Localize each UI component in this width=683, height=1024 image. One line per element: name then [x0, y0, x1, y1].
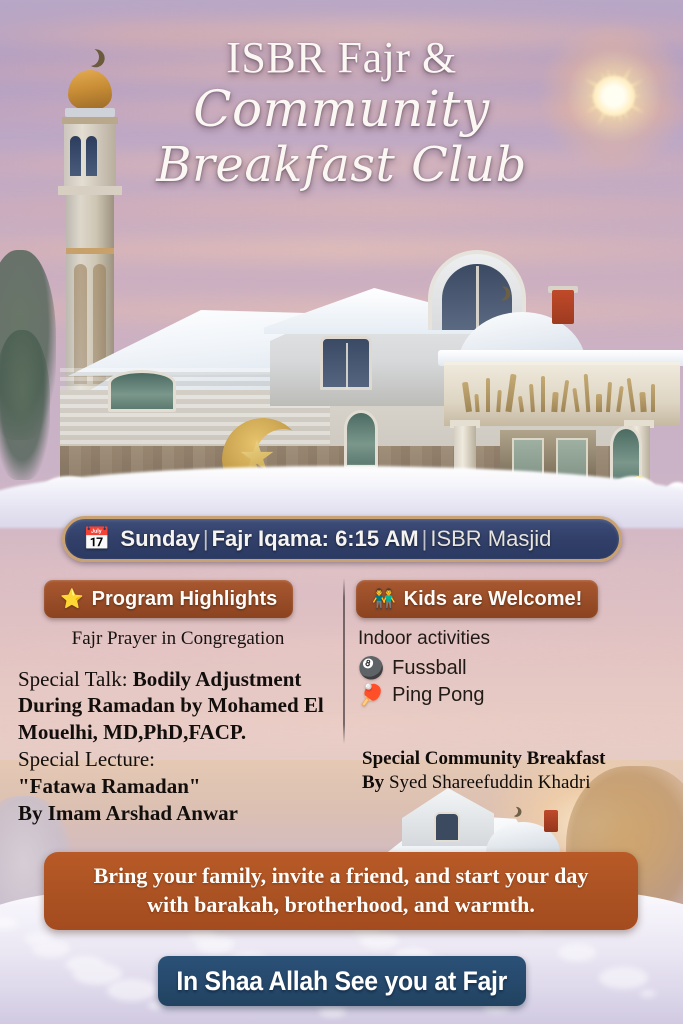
- kids-activities-column: Indoor activities 🎱 Fussball 🏓 Ping Pong: [358, 628, 670, 711]
- star-icon: ⭐: [60, 590, 84, 609]
- calligraphy-stroke: [496, 390, 502, 412]
- snow-speck: [558, 944, 596, 961]
- breakfast-by-name: Syed Shareefuddin Khadri: [389, 772, 591, 793]
- children-icon: 👬: [372, 590, 396, 609]
- calligraphy-stroke: [541, 376, 545, 412]
- program-highlights-column: Fajr Prayer in Congregation Special Talk…: [18, 628, 338, 826]
- breakfast-by-line: By Syed Shareefuddin Khadri: [362, 771, 662, 796]
- calligraphy-stroke: [529, 384, 535, 412]
- section-header-kids-welcome: 👬 Kids are Welcome!: [356, 580, 598, 618]
- chimney: [552, 290, 574, 324]
- calendar-icon: 📅: [83, 528, 110, 550]
- special-lecture-block: Special Lecture: "Fatawa Ramadan" By Ima…: [18, 746, 338, 827]
- activity-item-ping-pong: 🏓 Ping Pong: [358, 684, 670, 707]
- breakfast-by-label: By: [362, 772, 384, 793]
- calligraphy-stroke: [606, 382, 612, 412]
- special-lecture-title: "Fatawa Ramadan": [18, 773, 338, 800]
- cta-invitation-box: Bring your family, invite a friend, and …: [44, 852, 638, 930]
- fajr-prayer-line: Fajr Prayer in Congregation: [18, 628, 338, 650]
- snow-speck: [640, 990, 656, 997]
- special-talk-block: Special Talk: Bodily Adjustment During R…: [18, 666, 338, 745]
- calligraphy-stroke: [462, 382, 472, 413]
- section-label-program: Program Highlights: [92, 588, 278, 611]
- date-iqama: Fajr Iqama: 6:15 AM: [212, 526, 419, 551]
- calligraphy-stroke: [518, 396, 524, 412]
- calligraphy-stroke: [596, 394, 602, 412]
- date-separator-1: |: [200, 526, 212, 551]
- column-divider: [343, 578, 345, 744]
- final-banner-text: In Shaa Allah See you at Fajr: [177, 966, 508, 997]
- snow-speck: [599, 967, 648, 989]
- special-talk-label: Special Talk:: [18, 667, 128, 691]
- arabic-calligraphy: [460, 374, 664, 416]
- section-header-program-highlights: ⭐ Program Highlights: [44, 580, 293, 618]
- calligraphy-stroke: [651, 384, 655, 412]
- snow-speck: [32, 940, 70, 957]
- date-day: Sunday: [120, 526, 199, 551]
- breakfast-title: Special Community Breakfast: [362, 748, 662, 771]
- special-lecture-speaker: By Imam Arshad Anwar: [18, 800, 338, 827]
- snow-speck: [0, 917, 18, 929]
- arched-window: [108, 370, 176, 412]
- billiard-table-icon: 🎱: [358, 658, 384, 679]
- special-lecture-label: Special Lecture:: [18, 746, 338, 773]
- calligraphy-stroke: [551, 392, 558, 412]
- final-banner: In Shaa Allah See you at Fajr: [158, 956, 526, 1006]
- date-banner-text: Sunday|Fajr Iqama: 6:15 AM|ISBR Masjid: [120, 526, 551, 552]
- ping-pong-icon: 🏓: [358, 685, 384, 706]
- indoor-activities-heading: Indoor activities: [358, 628, 670, 650]
- calligraphy-stroke: [584, 374, 591, 412]
- calligraphy-stroke: [572, 388, 579, 412]
- snow-speck: [73, 963, 122, 985]
- window-mullion: [476, 266, 479, 332]
- date-location: ISBR Masjid: [430, 526, 551, 551]
- section-label-kids: Kids are Welcome!: [404, 588, 583, 611]
- calligraphy-stroke: [616, 386, 624, 412]
- calligraphy-stroke: [474, 394, 479, 412]
- cloud-band: [0, 560, 683, 580]
- special-talk-title-2: During Ramadan by Mohamed: [18, 693, 299, 717]
- crescent-finial-icon: [507, 805, 520, 818]
- special-talk-title-1: Bodily Adjustment: [133, 667, 302, 691]
- activity-item-fussball: 🎱 Fussball: [358, 657, 670, 680]
- poster-root: ISBR Fajr & Community Breakfast Club 📅 S…: [0, 0, 683, 1024]
- cta-line-1: Bring your family, invite a friend, and …: [94, 863, 589, 888]
- special-breakfast-block: Special Community Breakfast By Syed Shar…: [362, 748, 662, 795]
- title-line-2: Community: [0, 81, 683, 138]
- bottom-gable-window: [434, 812, 460, 842]
- title-line-3: Breakfast Club: [0, 138, 683, 193]
- date-time-banner: 📅 Sunday|Fajr Iqama: 6:15 AM|ISBR Masjid: [62, 516, 622, 562]
- snow-speck: [196, 936, 234, 953]
- cta-text: Bring your family, invite a friend, and …: [94, 862, 589, 919]
- calligraphy-stroke: [639, 392, 646, 412]
- snow-speck: [319, 1005, 346, 1017]
- cta-line-2: with barakah, brotherhood, and warmth.: [147, 892, 535, 917]
- poster-title: ISBR Fajr & Community Breakfast Club: [0, 36, 683, 193]
- calligraphy-stroke: [561, 380, 569, 412]
- bottom-chimney: [544, 810, 558, 832]
- gable-window: [320, 336, 372, 390]
- snow-speck: [360, 932, 398, 949]
- activity-label-ping-pong: Ping Pong: [392, 684, 484, 707]
- date-separator-2: |: [419, 526, 431, 551]
- calligraphy-stroke: [505, 374, 516, 412]
- calligraphy-stroke: [486, 378, 490, 412]
- title-line-1: ISBR Fajr &: [0, 36, 683, 81]
- calligraphy-stroke: [627, 378, 636, 412]
- activity-label-fussball: Fussball: [392, 657, 466, 680]
